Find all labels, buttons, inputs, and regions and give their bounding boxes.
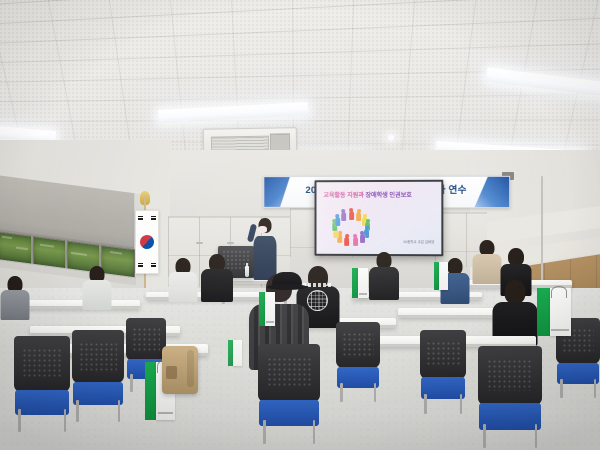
gift-bag	[259, 292, 275, 326]
trigram	[151, 216, 156, 220]
attendee-black-tee	[200, 254, 233, 302]
presenter-face-mask	[258, 226, 267, 233]
chair-seat	[557, 363, 599, 384]
chair-back	[126, 318, 166, 361]
cabinet-handle	[227, 242, 234, 244]
chair	[336, 322, 380, 402]
attendee-beige-top	[472, 240, 502, 284]
chair-leg	[313, 420, 316, 444]
gift-bag-white-panel	[439, 262, 448, 290]
gift-bag-logo	[158, 412, 174, 414]
chair	[14, 336, 70, 432]
projected-slide: 교육활동 지원과 장애학생 인권보호 00중학교 교감 김화영	[316, 182, 441, 254]
people-circle-clipart	[328, 208, 374, 244]
trigram	[151, 263, 156, 267]
chair-leg	[18, 409, 21, 432]
chair-leg	[263, 420, 266, 444]
chair-seat	[421, 377, 465, 399]
trigram	[138, 216, 143, 220]
chair-leg	[483, 424, 486, 448]
attendee-navy-shirt	[368, 252, 399, 300]
recessed-downlight	[386, 134, 396, 141]
tan-backpack	[162, 346, 198, 394]
korean-national-flag-taegukgi	[131, 196, 159, 288]
flag-cloth	[135, 210, 159, 274]
chair-seat	[259, 400, 319, 426]
slide-title: 교육활동 지원과 장애학생 인권보호	[323, 190, 431, 199]
trigram	[138, 263, 143, 267]
chair-leg	[460, 394, 463, 414]
roller-blind	[100, 189, 135, 250]
torso	[201, 269, 233, 302]
slide-credit: 00중학교 교감 김화영	[403, 239, 434, 244]
seminar-room-photograph: 2022 장애학생 인권보호 역량 강화 연수 일시 : 2022. 8. 12…	[0, 0, 600, 450]
taeguk-symbol	[138, 233, 157, 252]
chair-leg	[130, 374, 133, 392]
chair-leg	[340, 383, 343, 402]
window-mullion	[65, 240, 67, 268]
bucket-hat-brim	[267, 284, 307, 290]
chair	[478, 346, 542, 448]
gift-bag-logo	[266, 321, 274, 323]
gift-bag-logo	[359, 293, 367, 295]
chair-leg	[118, 400, 121, 422]
cabinet-handle	[196, 242, 203, 244]
gift-bag-handle	[551, 286, 567, 298]
chair-leg	[594, 379, 597, 398]
gift-bag	[352, 268, 368, 298]
head	[505, 280, 526, 304]
chair	[72, 330, 124, 422]
chair-leg	[76, 400, 79, 422]
gift-bag-white-panel	[233, 340, 242, 366]
gift-bag	[434, 262, 448, 290]
chair-leg	[535, 424, 538, 448]
torso	[83, 280, 112, 310]
projection-screen: 교육활동 지원과 장애학생 인권보호 00중학교 교감 김화영	[315, 180, 444, 257]
torso	[369, 267, 399, 300]
roller-blind	[32, 180, 67, 241]
roller-blind	[66, 184, 101, 245]
gift-bag	[228, 340, 242, 366]
roller-blind	[0, 175, 33, 236]
tshirt-globe-print	[307, 290, 328, 311]
chair-leg	[374, 383, 377, 402]
slide-title-part2: 장애학생 인권보호	[365, 192, 411, 199]
chair-leg	[64, 409, 67, 432]
chair-back	[478, 346, 542, 405]
chair-back	[258, 344, 320, 402]
torso	[1, 290, 30, 320]
chair-seat	[15, 390, 69, 415]
table-row-back	[20, 300, 140, 309]
chair-seat	[73, 382, 123, 406]
chair-back	[72, 330, 124, 383]
attendee-gray-tee	[0, 276, 30, 320]
chair-seat	[337, 367, 379, 388]
chair-leg	[560, 379, 563, 398]
attendee-dark-green-tee	[82, 266, 112, 310]
gift-bag	[537, 288, 571, 336]
chair-leg	[424, 394, 427, 414]
chair-back	[14, 336, 70, 392]
chair-seat	[479, 403, 540, 430]
chair-back	[336, 322, 380, 368]
gift-bag-logo	[551, 329, 569, 331]
chair-back	[420, 330, 466, 379]
hanging-cable	[541, 176, 543, 296]
chair	[420, 330, 466, 414]
torso	[169, 272, 198, 302]
window-mullion	[31, 236, 33, 264]
slide-title-part1: 교육활동 지원과	[323, 192, 363, 199]
chair	[258, 344, 320, 444]
attendee-white-tee	[168, 258, 198, 302]
